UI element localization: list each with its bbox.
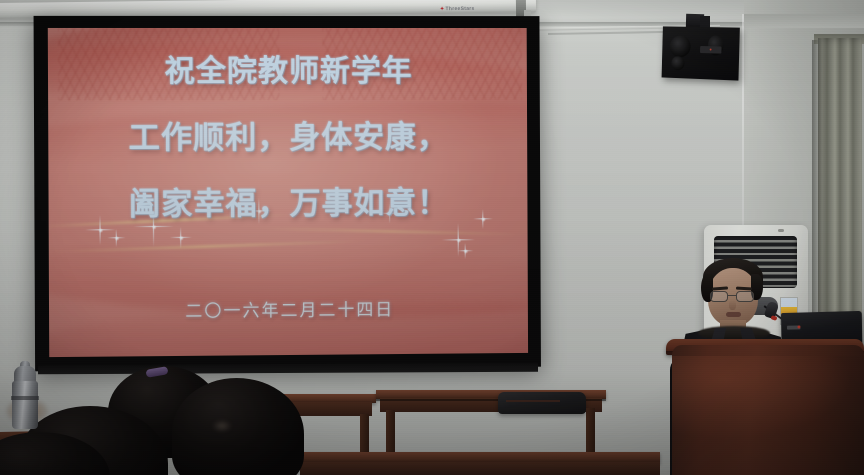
screen-brand-text: ThreeStars xyxy=(445,6,474,12)
glasses-bridge xyxy=(728,295,736,296)
bag-strap xyxy=(506,400,560,402)
glasses-lens xyxy=(736,291,754,302)
ac-sensor-icon xyxy=(778,229,784,232)
bag-on-bench[interactable] xyxy=(498,392,586,414)
brand-star-icon: ✦ xyxy=(440,6,445,12)
screen-brand-label: ✦ThreeStars xyxy=(440,6,475,12)
glasses-lens xyxy=(710,291,728,302)
room-photo-scene: ✦ThreeStars 祝全院教师新学年 xyxy=(0,0,864,475)
presenter-fur-collar xyxy=(698,326,770,340)
slide-line-3: 阖家幸福，万事如意！ xyxy=(129,187,449,221)
speaker-driver-icon xyxy=(671,56,685,70)
projected-slide: 祝全院教师新学年 工作顺利，身体安康， 阖家幸福，万事如意！ 二〇一六年二月二十… xyxy=(48,28,528,357)
thermos-flask[interactable] xyxy=(12,381,38,429)
speaker-brand-badge: ◆ xyxy=(700,46,722,54)
audience-head-highlight xyxy=(212,420,232,432)
slide-date: 二〇一六年二月二十四日 xyxy=(49,294,528,323)
slide-line-1: 祝全院教师新学年 xyxy=(165,56,413,88)
presenter-mouth xyxy=(726,312,741,317)
podium-front-panel xyxy=(672,356,864,475)
slide-line-2: 工作顺利，身体安康， xyxy=(129,121,449,154)
laptop-logo-icon xyxy=(787,325,801,329)
right-wall-soffit xyxy=(744,14,864,28)
presenter-nose xyxy=(729,300,736,310)
projection-screen[interactable]: 祝全院教师新学年 工作顺利，身体安康， 阖家幸福，万事如意！ 二〇一六年二月二十… xyxy=(34,16,541,371)
front-desk-apron xyxy=(300,462,660,475)
wall-mounted-speaker: ◆ xyxy=(662,26,740,80)
thermos-band xyxy=(11,396,39,400)
speaker-driver-icon xyxy=(670,35,691,57)
